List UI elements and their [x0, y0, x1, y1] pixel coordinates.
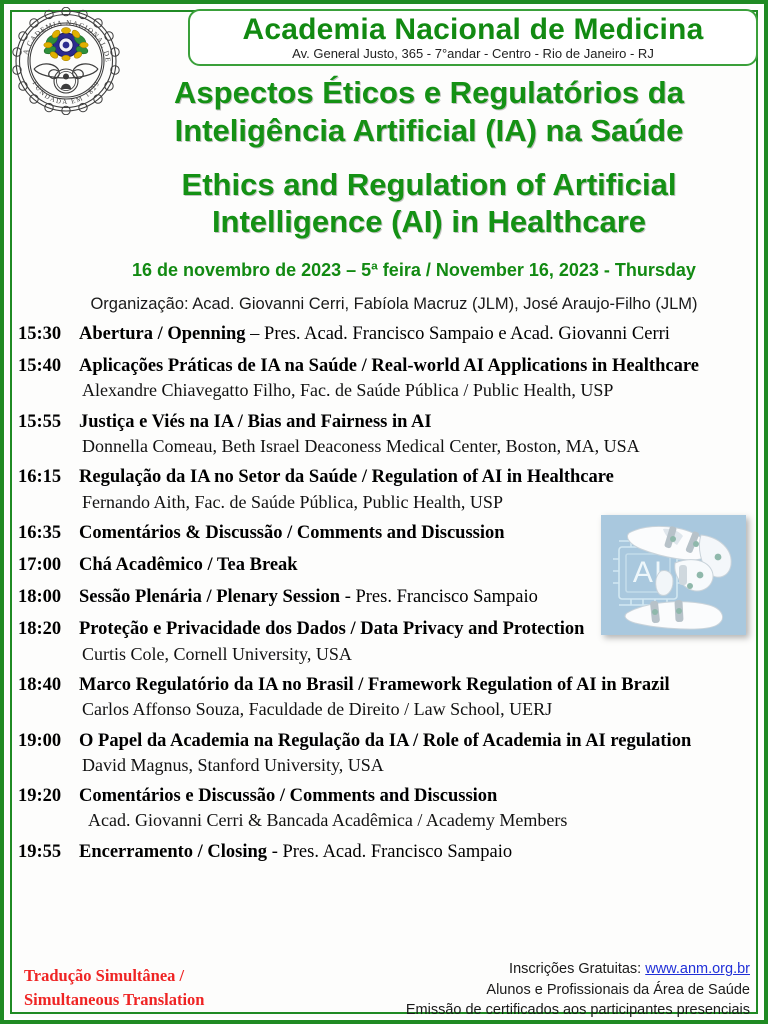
registration-website-link[interactable]: www.anm.org.br [645, 961, 750, 977]
translation-line-2: Simultaneous Translation [24, 988, 204, 1012]
schedule-topic: Abertura / Openning [79, 324, 246, 344]
schedule-speaker: Alexandre Chiavegatto Filho, Fac. de Saú… [82, 379, 762, 402]
registration-prefix: Inscrições Gratuitas: [509, 961, 645, 977]
event-title-portuguese: Aspectos Éticos e Regulatórios da Inteli… [104, 74, 754, 150]
schedule-topic-tail: – Pres. Acad. Francisco Sampaio e Acad. … [246, 324, 670, 344]
schedule-time: 19:55 [18, 841, 72, 864]
schedule-speaker: Carlos Affonso Souza, Faculdade de Direi… [82, 698, 762, 721]
schedule-speaker: David Magnus, Stanford University, USA [82, 754, 762, 777]
schedule-item-heading: 15:30Abertura / Openning – Pres. Acad. F… [18, 323, 762, 346]
schedule-item-heading: 19:20Comentários e Discussão / Comments … [18, 785, 762, 808]
schedule-time: 18:00 [18, 586, 72, 609]
registration-info: Inscrições Gratuitas: www.anm.org.br Alu… [406, 959, 750, 1021]
schedule-item: 19:55Encerramento / Closing - Pres. Acad… [18, 841, 762, 864]
schedule-topic-tail: - Pres. Francisco Sampaio [340, 587, 538, 607]
schedule-topic: Regulação da IA no Setor da Saúde / Regu… [79, 467, 614, 487]
organizers-line: Organização: Acad. Giovanni Cerri, Fabío… [44, 295, 744, 314]
schedule-topic: Encerramento / Closing [79, 842, 267, 862]
schedule-topic-tail: - Pres. Acad. Francisco Sampaio [267, 842, 512, 862]
schedule-item-heading: 19:55Encerramento / Closing - Pres. Acad… [18, 841, 762, 864]
schedule-topic: Comentários & Discussão / Comments and D… [79, 523, 505, 543]
schedule-time: 19:00 [18, 730, 72, 753]
schedule-topic: Marco Regulatório da IA no Brasil / Fram… [79, 675, 670, 695]
schedule-item-heading: 18:40Marco Regulatório da IA no Brasil /… [18, 674, 762, 697]
schedule-time: 15:40 [18, 355, 72, 378]
event-poster: A CADEMIA NACIONAL DE MEDICINA FUNDADA E… [0, 0, 768, 1024]
event-title-english: Ethics and Regulation of Artificial Inte… [104, 166, 754, 242]
schedule-topic: Aplicações Práticas de IA na Saúde / Rea… [79, 356, 699, 376]
title-en-line-1: Ethics and Regulation of Artificial [104, 166, 754, 204]
title-block: Aspectos Éticos e Regulatórios da Inteli… [104, 74, 754, 241]
title-pt-line-1: Aspectos Éticos e Regulatórios da [104, 74, 754, 112]
schedule-time: 15:30 [18, 323, 72, 346]
schedule-item-heading: 16:15Regulação da IA no Setor da Saúde /… [18, 466, 762, 489]
schedule-time: 18:40 [18, 674, 72, 697]
ai-robot-hand-image: AI [601, 515, 746, 635]
schedule-item: 19:20Comentários e Discussão / Comments … [18, 785, 762, 832]
schedule-item-heading: 15:55Justiça e Viés na IA / Bias and Fai… [18, 411, 762, 434]
simultaneous-translation-note: Tradução Simultânea / Simultaneous Trans… [24, 964, 204, 1012]
audience-line: Alunos e Profissionais da Área de Saúde [406, 980, 750, 1001]
schedule-time: 17:00 [18, 554, 72, 577]
schedule-topic: Justiça e Viés na IA / Bias and Fairness… [79, 412, 432, 432]
schedule-speaker: Acad. Giovanni Cerri & Bancada Acadêmica… [88, 809, 762, 832]
schedule-topic: Chá Acadêmico / Tea Break [79, 555, 298, 575]
schedule-item-heading: 15:40Aplicações Práticas de IA na Saúde … [18, 355, 762, 378]
schedule-item: 16:15Regulação da IA no Setor da Saúde /… [18, 466, 762, 513]
schedule-speaker: Fernando Aith, Fac. de Saúde Pública, Pu… [82, 491, 762, 514]
schedule-topic: Sessão Plenária / Plenary Session [79, 587, 340, 607]
event-date: 16 de novembro de 2023 – 5ª feira / Nove… [64, 260, 764, 281]
schedule-item: 19:00O Papel da Academia na Regulação da… [18, 730, 762, 777]
schedule-topic: O Papel da Academia na Regulação da IA /… [79, 731, 691, 751]
schedule-speaker: Donnella Comeau, Beth Israel Deaconess M… [82, 435, 762, 458]
schedule-time: 16:15 [18, 466, 72, 489]
schedule-time: 18:20 [18, 618, 72, 641]
title-pt-line-2: Inteligência Artificial (IA) na Saúde [104, 112, 754, 150]
schedule-item: 15:30Abertura / Openning – Pres. Acad. F… [18, 323, 762, 346]
certificates-line: Emissão de certificados aos participante… [406, 1000, 750, 1021]
schedule-time: 15:55 [18, 411, 72, 434]
schedule-item: 18:40Marco Regulatório da IA no Brasil /… [18, 674, 762, 721]
schedule-speaker: Curtis Cole, Cornell University, USA [82, 643, 762, 666]
schedule-topic: Comentários e Discussão / Comments and D… [79, 786, 497, 806]
institution-header-box: Academia Nacional de Medicina Av. Genera… [188, 9, 758, 66]
title-en-line-2: Intelligence (AI) in Healthcare [104, 203, 754, 241]
schedule-item-heading: 19:00O Papel da Academia na Regulação da… [18, 730, 762, 753]
registration-line: Inscrições Gratuitas: www.anm.org.br [406, 959, 750, 980]
institution-address: Av. General Justo, 365 - 7°andar - Centr… [190, 47, 756, 61]
schedule-time: 16:35 [18, 522, 72, 545]
schedule-time: 19:20 [18, 785, 72, 808]
translation-line-1: Tradução Simultânea / [24, 964, 204, 988]
institution-name: Academia Nacional de Medicina [190, 14, 756, 46]
schedule-topic: Proteção e Privacidade dos Dados / Data … [79, 619, 584, 639]
schedule-item: 15:55Justiça e Viés na IA / Bias and Fai… [18, 411, 762, 458]
schedule-item: 15:40Aplicações Práticas de IA na Saúde … [18, 355, 762, 402]
